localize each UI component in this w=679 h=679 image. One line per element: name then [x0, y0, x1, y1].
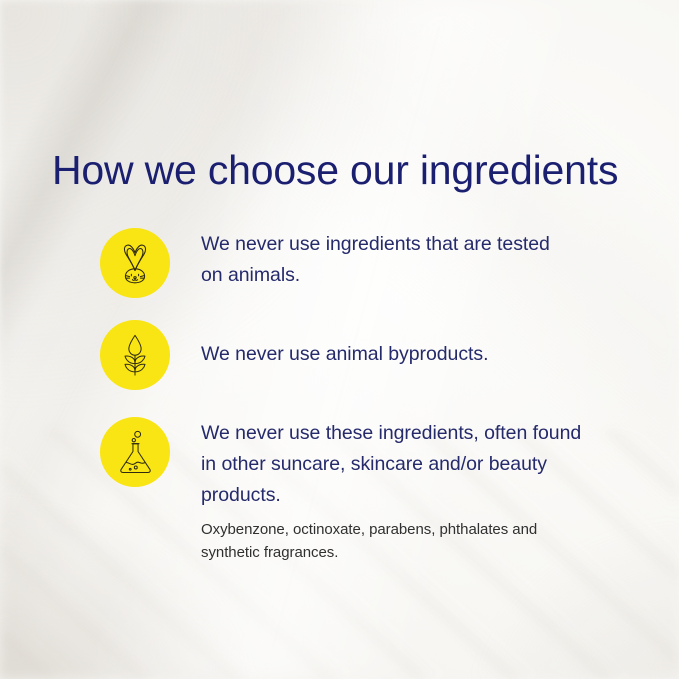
icon-badge-plant-based [100, 320, 170, 390]
infographic-canvas: How we choose our ingredients [0, 0, 679, 679]
list-item-text: We never use these ingredients, often fo… [201, 418, 601, 511]
list-item: We never use these ingredients, often fo… [100, 417, 640, 564]
list-item-body: We never use these ingredients, often fo… [201, 417, 601, 564]
list-item-subtext: Oxybenzone, octinoxate, parabens, phthal… [201, 518, 571, 564]
list-item-text: We never use ingredients that are tested… [201, 229, 561, 291]
plant-leaf-droplet-icon [112, 332, 158, 378]
page-title: How we choose our ingredients [52, 148, 618, 194]
list-item: We never use ingredients that are tested… [100, 228, 640, 298]
list-item-text: We never use animal byproducts. [201, 321, 489, 370]
bunny-heart-ears-icon [111, 239, 159, 287]
icon-badge-no-chemicals [100, 417, 170, 487]
list-item: We never use animal byproducts. [100, 320, 640, 390]
list-item-body: We never use animal byproducts. [201, 320, 489, 370]
icon-badge-cruelty-free [100, 228, 170, 298]
erlenmeyer-flask-icon [112, 429, 159, 476]
list-item-body: We never use ingredients that are tested… [201, 228, 561, 291]
ingredient-principles-list: We never use ingredients that are tested… [100, 228, 640, 564]
